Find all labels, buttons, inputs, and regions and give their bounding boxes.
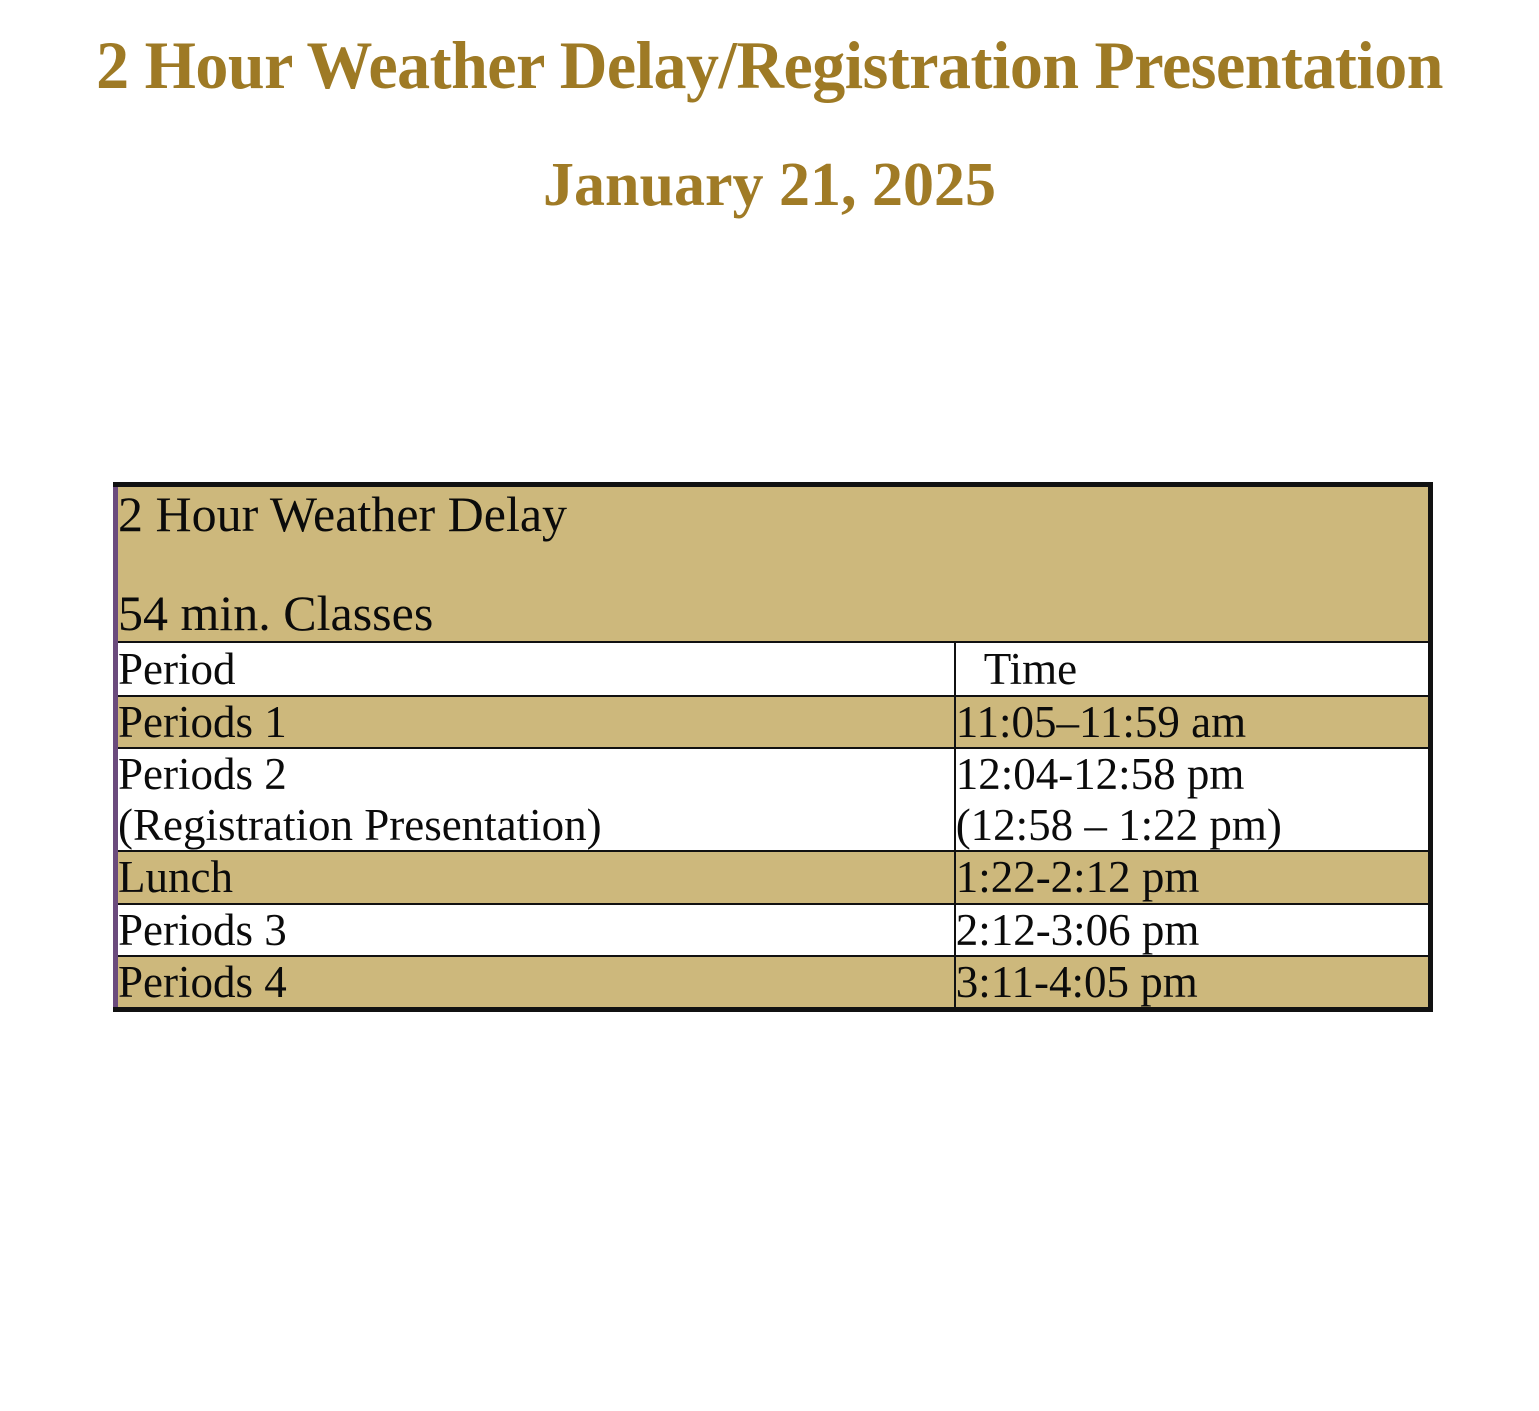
time-label: 3:11-4:05 pm bbox=[956, 957, 1428, 1007]
cell-period: Lunch bbox=[116, 851, 955, 903]
title-block: 2 Hour Weather Delay/Registration Presen… bbox=[0, 0, 1539, 218]
table-row: Periods 2 (Registration Presentation) 12… bbox=[116, 748, 1431, 851]
banner-title: 2 Hour Weather Delay bbox=[118, 487, 1428, 586]
time-label: 2:12-3:06 pm bbox=[956, 905, 1428, 955]
schedule-banner-row: 2 Hour Weather Delay 54 min. Classes bbox=[116, 485, 1431, 643]
cell-period: Periods 1 bbox=[116, 696, 955, 748]
period-label: Periods 4 bbox=[118, 957, 954, 1007]
table-row: Lunch 1:22-2:12 pm bbox=[116, 851, 1431, 903]
cell-time: 3:11-4:05 pm bbox=[955, 956, 1431, 1010]
table-row: Periods 3 2:12-3:06 pm bbox=[116, 904, 1431, 956]
schedule-table: 2 Hour Weather Delay 54 min. Classes Per… bbox=[113, 482, 1433, 1012]
time-label: 1:22-2:12 pm bbox=[956, 852, 1428, 902]
period-label: Lunch bbox=[118, 852, 954, 902]
cell-time: 12:04-12:58 pm (12:58 – 1:22 pm) bbox=[955, 748, 1431, 851]
schedule-column-header-row: Period Time bbox=[116, 642, 1431, 696]
page-date: January 21, 2025 bbox=[0, 153, 1539, 218]
schedule-table-wrapper: 2 Hour Weather Delay 54 min. Classes Per… bbox=[113, 482, 1433, 1012]
page-title: 2 Hour Weather Delay/Registration Presen… bbox=[23, 30, 1516, 101]
column-header-period: Period bbox=[116, 642, 955, 696]
cell-period: Periods 2 (Registration Presentation) bbox=[116, 748, 955, 851]
column-header-time: Time bbox=[955, 642, 1431, 696]
page-root: 2 Hour Weather Delay/Registration Presen… bbox=[0, 0, 1539, 1411]
schedule-table-body: 2 Hour Weather Delay 54 min. Classes Per… bbox=[116, 485, 1431, 1010]
cell-period: Periods 4 bbox=[116, 956, 955, 1010]
schedule-banner-cell: 2 Hour Weather Delay 54 min. Classes bbox=[116, 485, 1431, 643]
cell-time: 2:12-3:06 pm bbox=[955, 904, 1431, 956]
time-label: 12:04-12:58 pm bbox=[956, 749, 1428, 799]
cell-time: 11:05–11:59 am bbox=[955, 696, 1431, 748]
table-row: Periods 1 11:05–11:59 am bbox=[116, 696, 1431, 748]
table-row: Periods 4 3:11-4:05 pm bbox=[116, 956, 1431, 1010]
period-label: Periods 1 bbox=[118, 697, 954, 747]
time-label: 11:05–11:59 am bbox=[956, 697, 1428, 747]
period-label: Periods 3 bbox=[118, 905, 954, 955]
time-sublabel: (12:58 – 1:22 pm) bbox=[956, 800, 1428, 850]
period-label: Periods 2 bbox=[118, 749, 954, 799]
banner-subtitle: 54 min. Classes bbox=[118, 586, 1428, 641]
cell-time: 1:22-2:12 pm bbox=[955, 851, 1431, 903]
cell-period: Periods 3 bbox=[116, 904, 955, 956]
period-sublabel: (Registration Presentation) bbox=[118, 800, 954, 850]
